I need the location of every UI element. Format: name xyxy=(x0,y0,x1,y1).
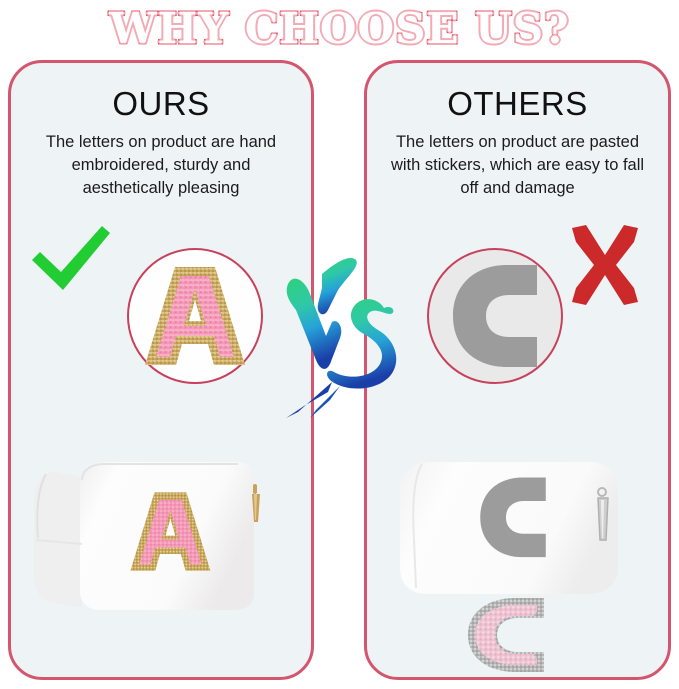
vs-brush-graphic xyxy=(280,252,402,420)
sticker-letter-c xyxy=(445,263,545,369)
panel-ours-header: OURS xyxy=(11,85,311,123)
panel-ours-description: The letters on product are hand embroide… xyxy=(11,131,311,199)
product-pouch-others xyxy=(392,448,632,608)
x-icon xyxy=(562,222,648,308)
patch-circle-others xyxy=(427,248,563,384)
chenille-letter-a-patch xyxy=(142,264,248,368)
product-pouch-ours xyxy=(24,448,296,638)
check-icon xyxy=(28,222,114,308)
fallen-letter-c-patch xyxy=(462,596,550,674)
page-title: WHY CHOOSE US? xyxy=(109,8,569,50)
patch-circle-ours xyxy=(127,248,263,384)
panel-others-description: The letters on product are pasted with s… xyxy=(367,131,668,199)
panel-others-header: OTHERS xyxy=(367,85,668,123)
title-bar: WHY CHOOSE US? xyxy=(0,0,679,58)
